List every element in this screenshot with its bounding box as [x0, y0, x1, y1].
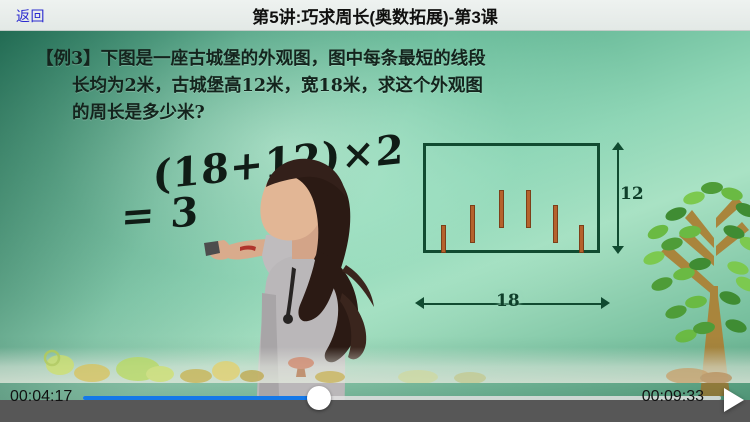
castle-tick-mark [553, 205, 558, 243]
height-label: 12 [620, 184, 644, 204]
problem-line-1: 【例3】下图是一座古城堡的外观图，图中每条最短的线段 [36, 46, 602, 73]
width-label: 18 [493, 291, 523, 311]
castle-rectangle [423, 143, 600, 253]
total-time-label: 00:09:33 [642, 388, 704, 406]
seek-bar-thumb[interactable] [307, 386, 331, 410]
castle-tick-mark [470, 205, 475, 243]
controls-background [0, 400, 750, 422]
problem-line-2: 长均为2米，古城堡高12米，宽18米，求这个外观图 [72, 73, 602, 100]
seek-bar-progress [83, 396, 319, 400]
height-dimension: 12 [606, 142, 630, 254]
video-lesson-screen: 返回 第5讲:巧求周长(奥数拓展)-第3课 [0, 0, 750, 422]
width-dimension: 18 [415, 293, 610, 315]
problem-line-3: 的周长是多少米? [72, 100, 602, 127]
player-controls: 00:04:17 00:09:33 [0, 380, 750, 422]
problem-statement: 【例3】下图是一座古城堡的外观图，图中每条最短的线段 长均为2米，古城堡高12米… [36, 46, 602, 127]
video-player-surface[interactable]: 【例3】下图是一座古城堡的外观图，图中每条最短的线段 长均为2米，古城堡高12米… [0, 31, 750, 422]
current-time-label: 00:04:17 [10, 388, 72, 406]
arrow-down-icon [612, 246, 624, 254]
seek-bar[interactable] [83, 396, 721, 400]
castle-tick-mark [441, 225, 446, 253]
dimension-line [617, 148, 619, 248]
play-triangle-icon[interactable] [724, 388, 744, 412]
castle-tick-mark [579, 225, 584, 253]
castle-tick-mark [499, 190, 504, 228]
decorative-wall-strip [0, 347, 750, 383]
page-title: 第5讲:巧求周长(奥数拓展)-第3课 [0, 3, 750, 28]
castle-diagram: 12 18 [423, 143, 603, 293]
handwriting-line-2: = 3 [120, 188, 200, 241]
arrow-right-icon [601, 297, 610, 309]
castle-tick-mark [526, 190, 531, 228]
navigation-bar: 返回 第5讲:巧求周长(奥数拓展)-第3课 [0, 0, 750, 31]
